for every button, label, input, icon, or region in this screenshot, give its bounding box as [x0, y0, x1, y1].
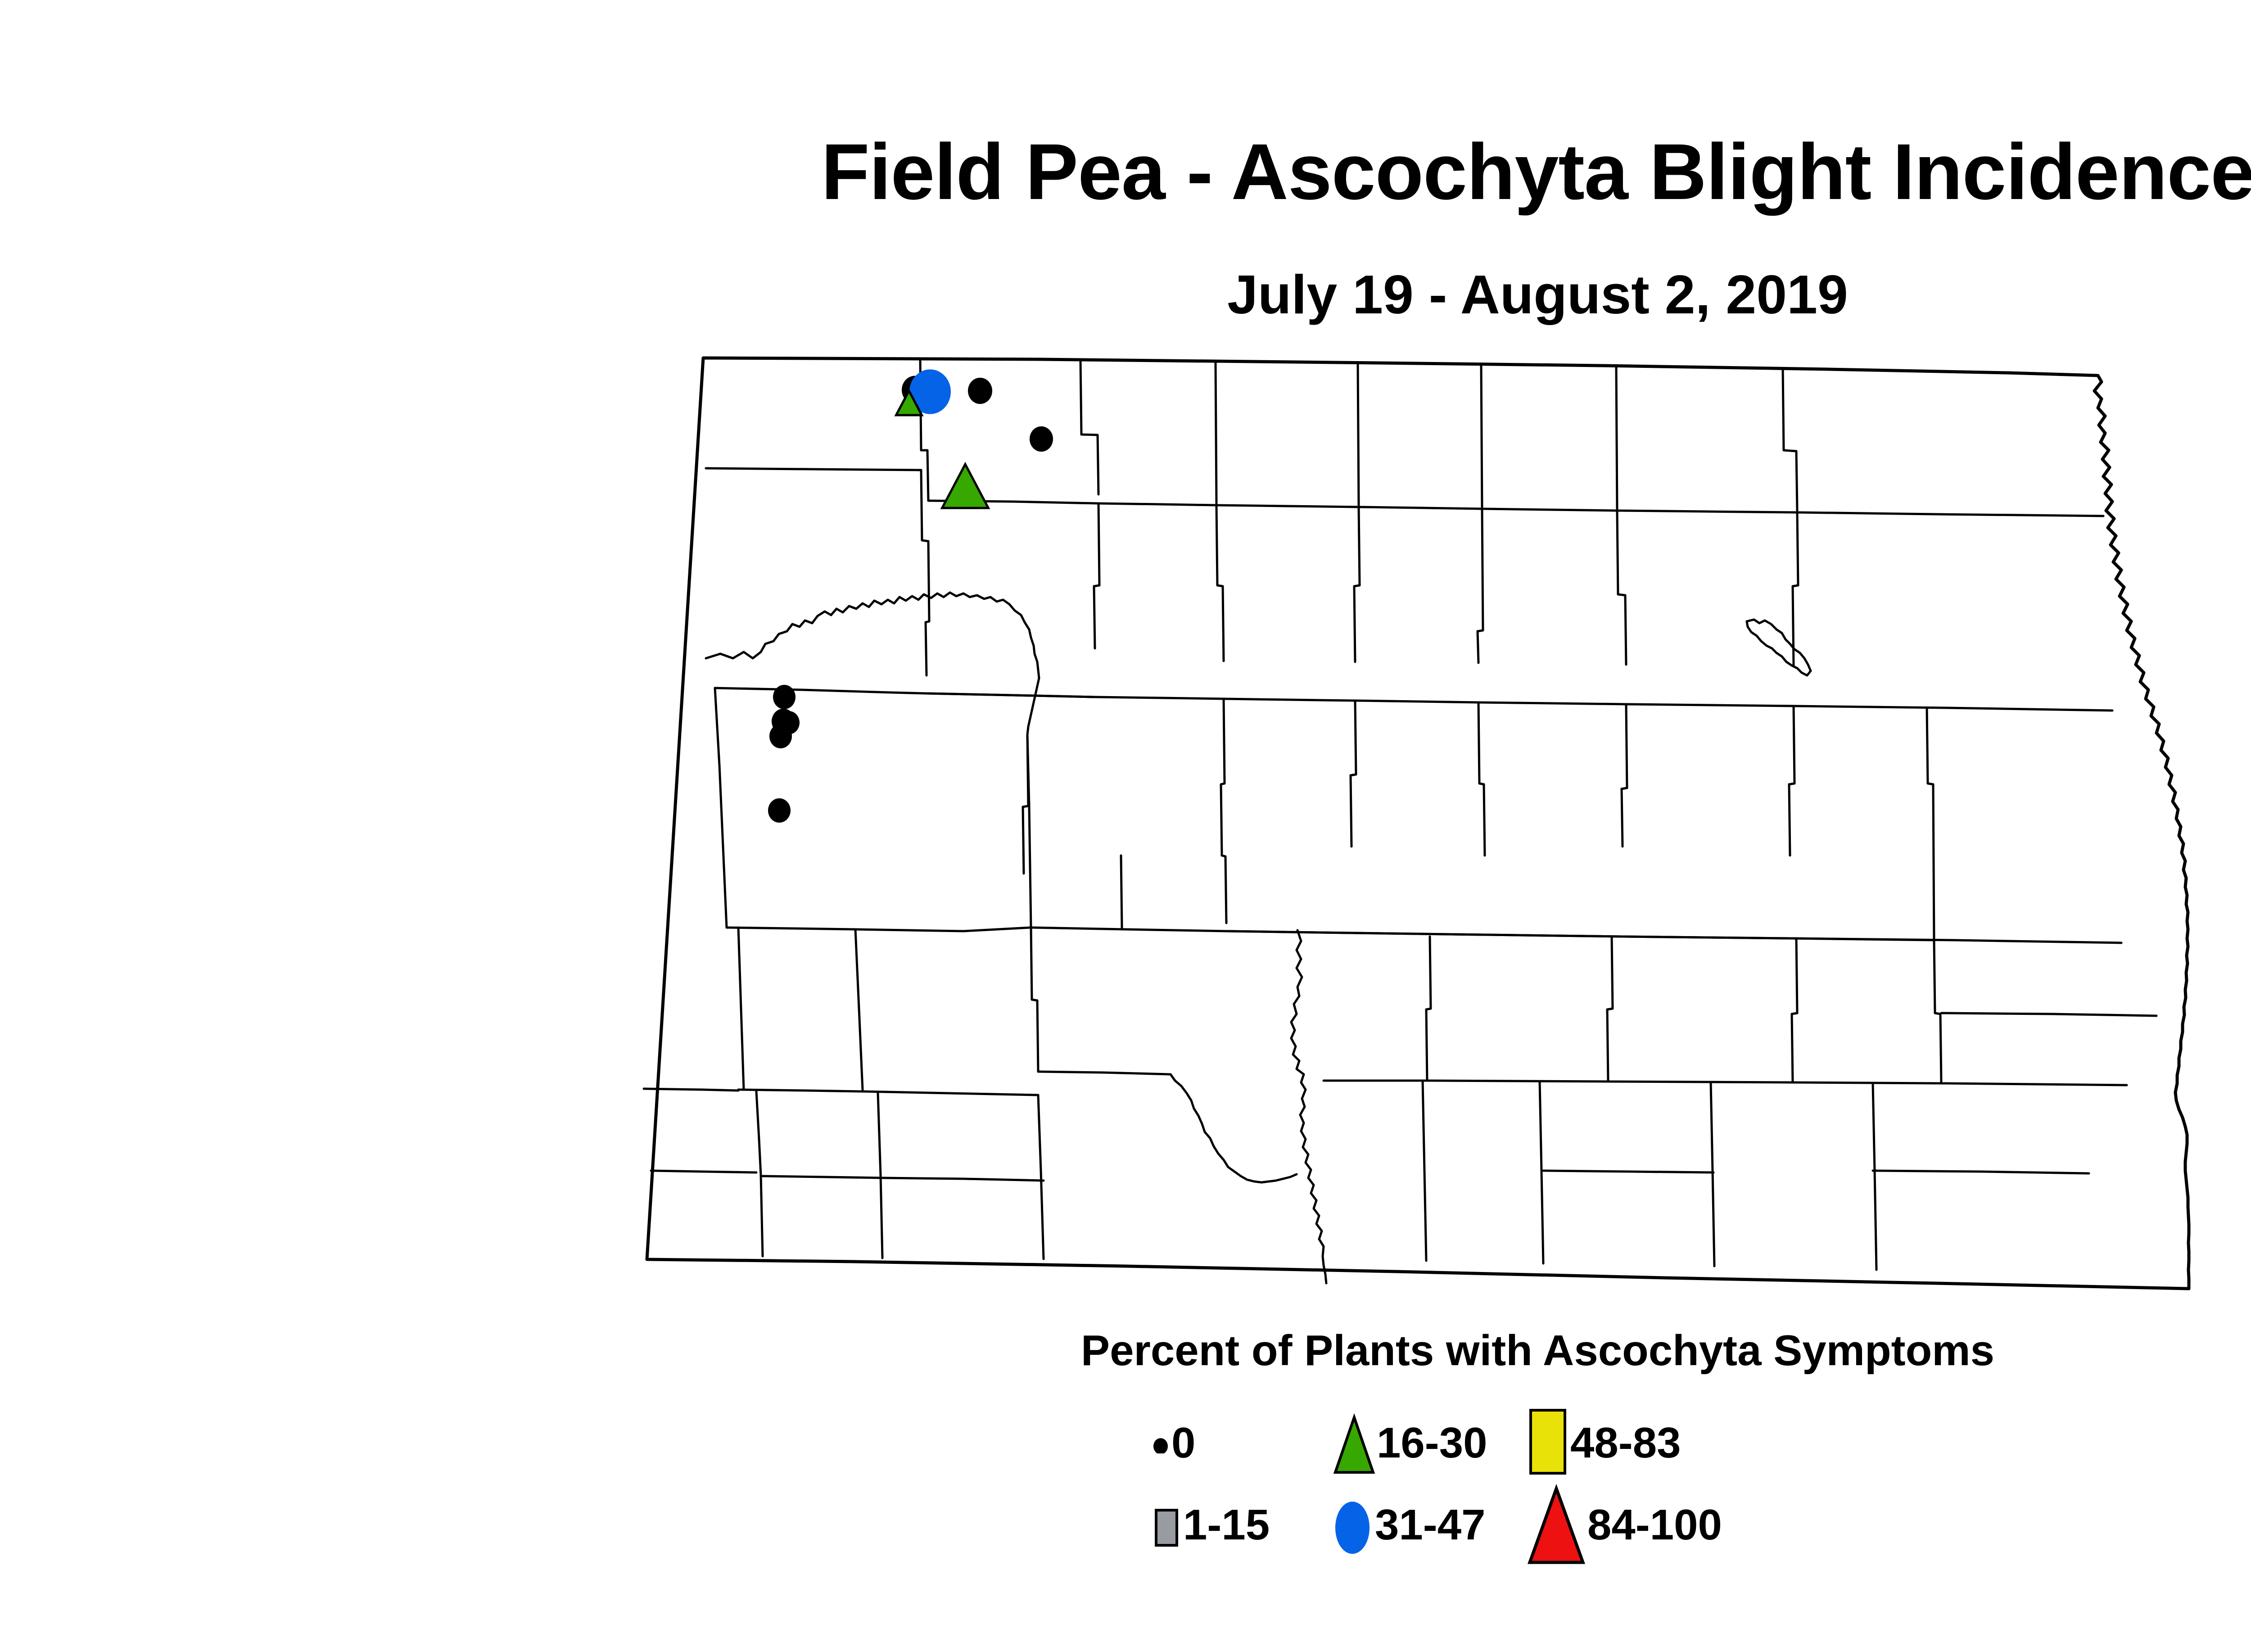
map-marker-0	[968, 378, 992, 404]
county-line-mercer-west	[1027, 735, 1031, 928]
page-subtitle: July 19 - August 2, 2019	[0, 266, 2251, 323]
legend-item-0[interactable]: 0	[1153, 1405, 1195, 1481]
county-line-mercer-east	[1121, 855, 1122, 928]
county-line-bottineau-east	[1358, 364, 1359, 505]
county-line-mclean-east	[1221, 699, 1226, 923]
county-line-billings-east	[738, 928, 744, 1090]
legend-label-48-83: 48-83	[1570, 1421, 1681, 1465]
county-line-cavalier-east	[1783, 368, 1797, 511]
county-line-adams-north	[763, 1176, 881, 1178]
county-line-mchenry-east	[1354, 507, 1360, 662]
county-line-mountrail-east	[1094, 503, 1099, 648]
county-line-grandforks-north-sub	[1927, 708, 1934, 940]
legend-row-2: 1-15 31-47 84-100	[1144, 1487, 1864, 1563]
county-line-sioux-west	[1038, 1095, 1044, 1259]
legend-swatch-triangle-red-icon	[1526, 1482, 1587, 1568]
county-line-mckenzie-west	[715, 688, 727, 928]
legend-label-16-30: 16-30	[1377, 1421, 1487, 1465]
county-line-nelson-east	[1789, 706, 1794, 855]
legend-swatch-circle-blue-icon	[1333, 1494, 1374, 1557]
county-line-benson-south	[1478, 702, 1626, 704]
county-line-oliver-south	[1038, 1072, 1171, 1074]
county-line-williams-south	[715, 688, 927, 693]
county-line-adams-west	[651, 1171, 756, 1172]
north-dakota-county-map	[599, 342, 2228, 1315]
county-line-ramsey-east	[1793, 512, 1798, 665]
page-title: Field Pea - Ascochyta Blight Incidence	[0, 131, 2251, 214]
county-line-mclean-south	[1031, 928, 1226, 931]
county-line-dickey-line	[1543, 1171, 1713, 1172]
county-line-mchenry-south	[1224, 699, 1355, 701]
morton-county-river-edge	[1171, 1074, 1297, 1182]
county-line-oliver-west	[1031, 928, 1038, 1072]
legend-item-84-100[interactable]: 84-100	[1526, 1487, 1722, 1563]
map-marker-0	[768, 798, 791, 823]
map-marker-0	[1030, 426, 1053, 452]
legend-swatch-square-yellow-icon	[1526, 1405, 1569, 1481]
county-line-cass-east	[1934, 940, 1941, 1083]
county-line-lamoure-east	[1711, 1082, 1714, 1266]
map-marker-0	[769, 724, 792, 748]
county-line-sargent-line	[1873, 1171, 2089, 1173]
county-line-burke-east	[1080, 360, 1098, 494]
county-line-ramsey-south	[1626, 704, 1794, 706]
legend-item-48-83[interactable]: 48-83	[1526, 1405, 1681, 1481]
map-marker-0	[773, 685, 796, 709]
county-line-pierce-east	[1478, 509, 1483, 663]
state-outline	[647, 358, 2189, 1289]
county-line-adams-east	[878, 1093, 882, 1258]
county-line-kidder-east	[1426, 937, 1431, 1081]
legend: 0 16-30 48-83	[1144, 1405, 1864, 1594]
county-line-towner-east	[1616, 367, 1617, 509]
devils-lake	[1747, 620, 1811, 675]
county-line-walsh-south	[1794, 706, 2112, 711]
county-line-burleigh-north	[1226, 931, 1934, 940]
county-line-eddy-east	[1622, 704, 1627, 846]
figure-canvas: Field Pea - Ascochyta Blight Incidence J…	[0, 0, 2251, 1652]
legend-label-31-47: 31-47	[1375, 1503, 1486, 1547]
county-line-renville-east	[1216, 363, 1216, 503]
legend-item-16-30[interactable]: 16-30	[1333, 1405, 1487, 1481]
legend-label-84-100: 84-100	[1587, 1503, 1722, 1547]
county-line-wells-east	[1478, 702, 1485, 855]
county-line-stutsman-east	[1607, 937, 1613, 1081]
county-line-barnes-east	[1792, 938, 1797, 1082]
legend-swatch-dot-icon	[1153, 1433, 1171, 1453]
county-line-grant-south	[881, 1178, 1044, 1181]
legend-title: Percent of Plants with Ascochyta Symptom…	[0, 1326, 2251, 1376]
legend-item-1-15[interactable]: 1-15	[1153, 1487, 1270, 1563]
legend-row-1: 0 16-30 48-83	[1144, 1405, 1864, 1481]
county-line-pierce-south	[1355, 701, 1478, 702]
county-line-pembina-south	[1797, 512, 2103, 516]
map-marker-16-30	[942, 464, 989, 508]
county-line-rolette-south	[1359, 507, 1482, 509]
county-line-ward-south	[1095, 697, 1224, 699]
county-line-ward-east	[1216, 505, 1224, 661]
legend-item-31-47[interactable]: 31-47	[1333, 1487, 1486, 1563]
county-line-stark-south	[738, 1090, 1038, 1095]
county-line-ransom-east	[1873, 1084, 1876, 1270]
county-boundaries	[644, 358, 2189, 1289]
county-line-towner-south	[1482, 509, 1617, 511]
county-line-logan-east	[1540, 1082, 1543, 1263]
legend-swatch-triangle-green-icon	[1333, 1409, 1376, 1477]
county-line-stark-west	[855, 929, 863, 1090]
county-line-rolette-east	[1481, 365, 1482, 507]
county-line-divide-south	[706, 468, 921, 470]
legend-swatch-square-grey-icon	[1153, 1500, 1182, 1550]
county-line-emmons-east	[1423, 1081, 1426, 1261]
county-line-sheridan-east	[1351, 701, 1356, 846]
county-line-mclean-north	[927, 693, 1095, 697]
missouri-river	[1291, 930, 1324, 1265]
missouri-river-south	[1324, 1265, 1326, 1283]
county-line-cass-south	[1324, 1081, 2127, 1085]
county-line-cass-sub	[1941, 1013, 2156, 1016]
county-line-renville-south	[1098, 503, 1216, 505]
county-line-bottineau-south	[1216, 505, 1359, 507]
county-line-benson-east	[1617, 511, 1626, 665]
legend-label-0: 0	[1171, 1421, 1195, 1465]
county-line-cavalier-south	[1617, 511, 1797, 512]
county-line-bowman-east	[756, 1091, 763, 1256]
legend-label-1-15: 1-15	[1183, 1503, 1270, 1547]
county-line-mckenzie-river	[706, 593, 1039, 735]
county-line-dunn-south	[727, 928, 1031, 931]
